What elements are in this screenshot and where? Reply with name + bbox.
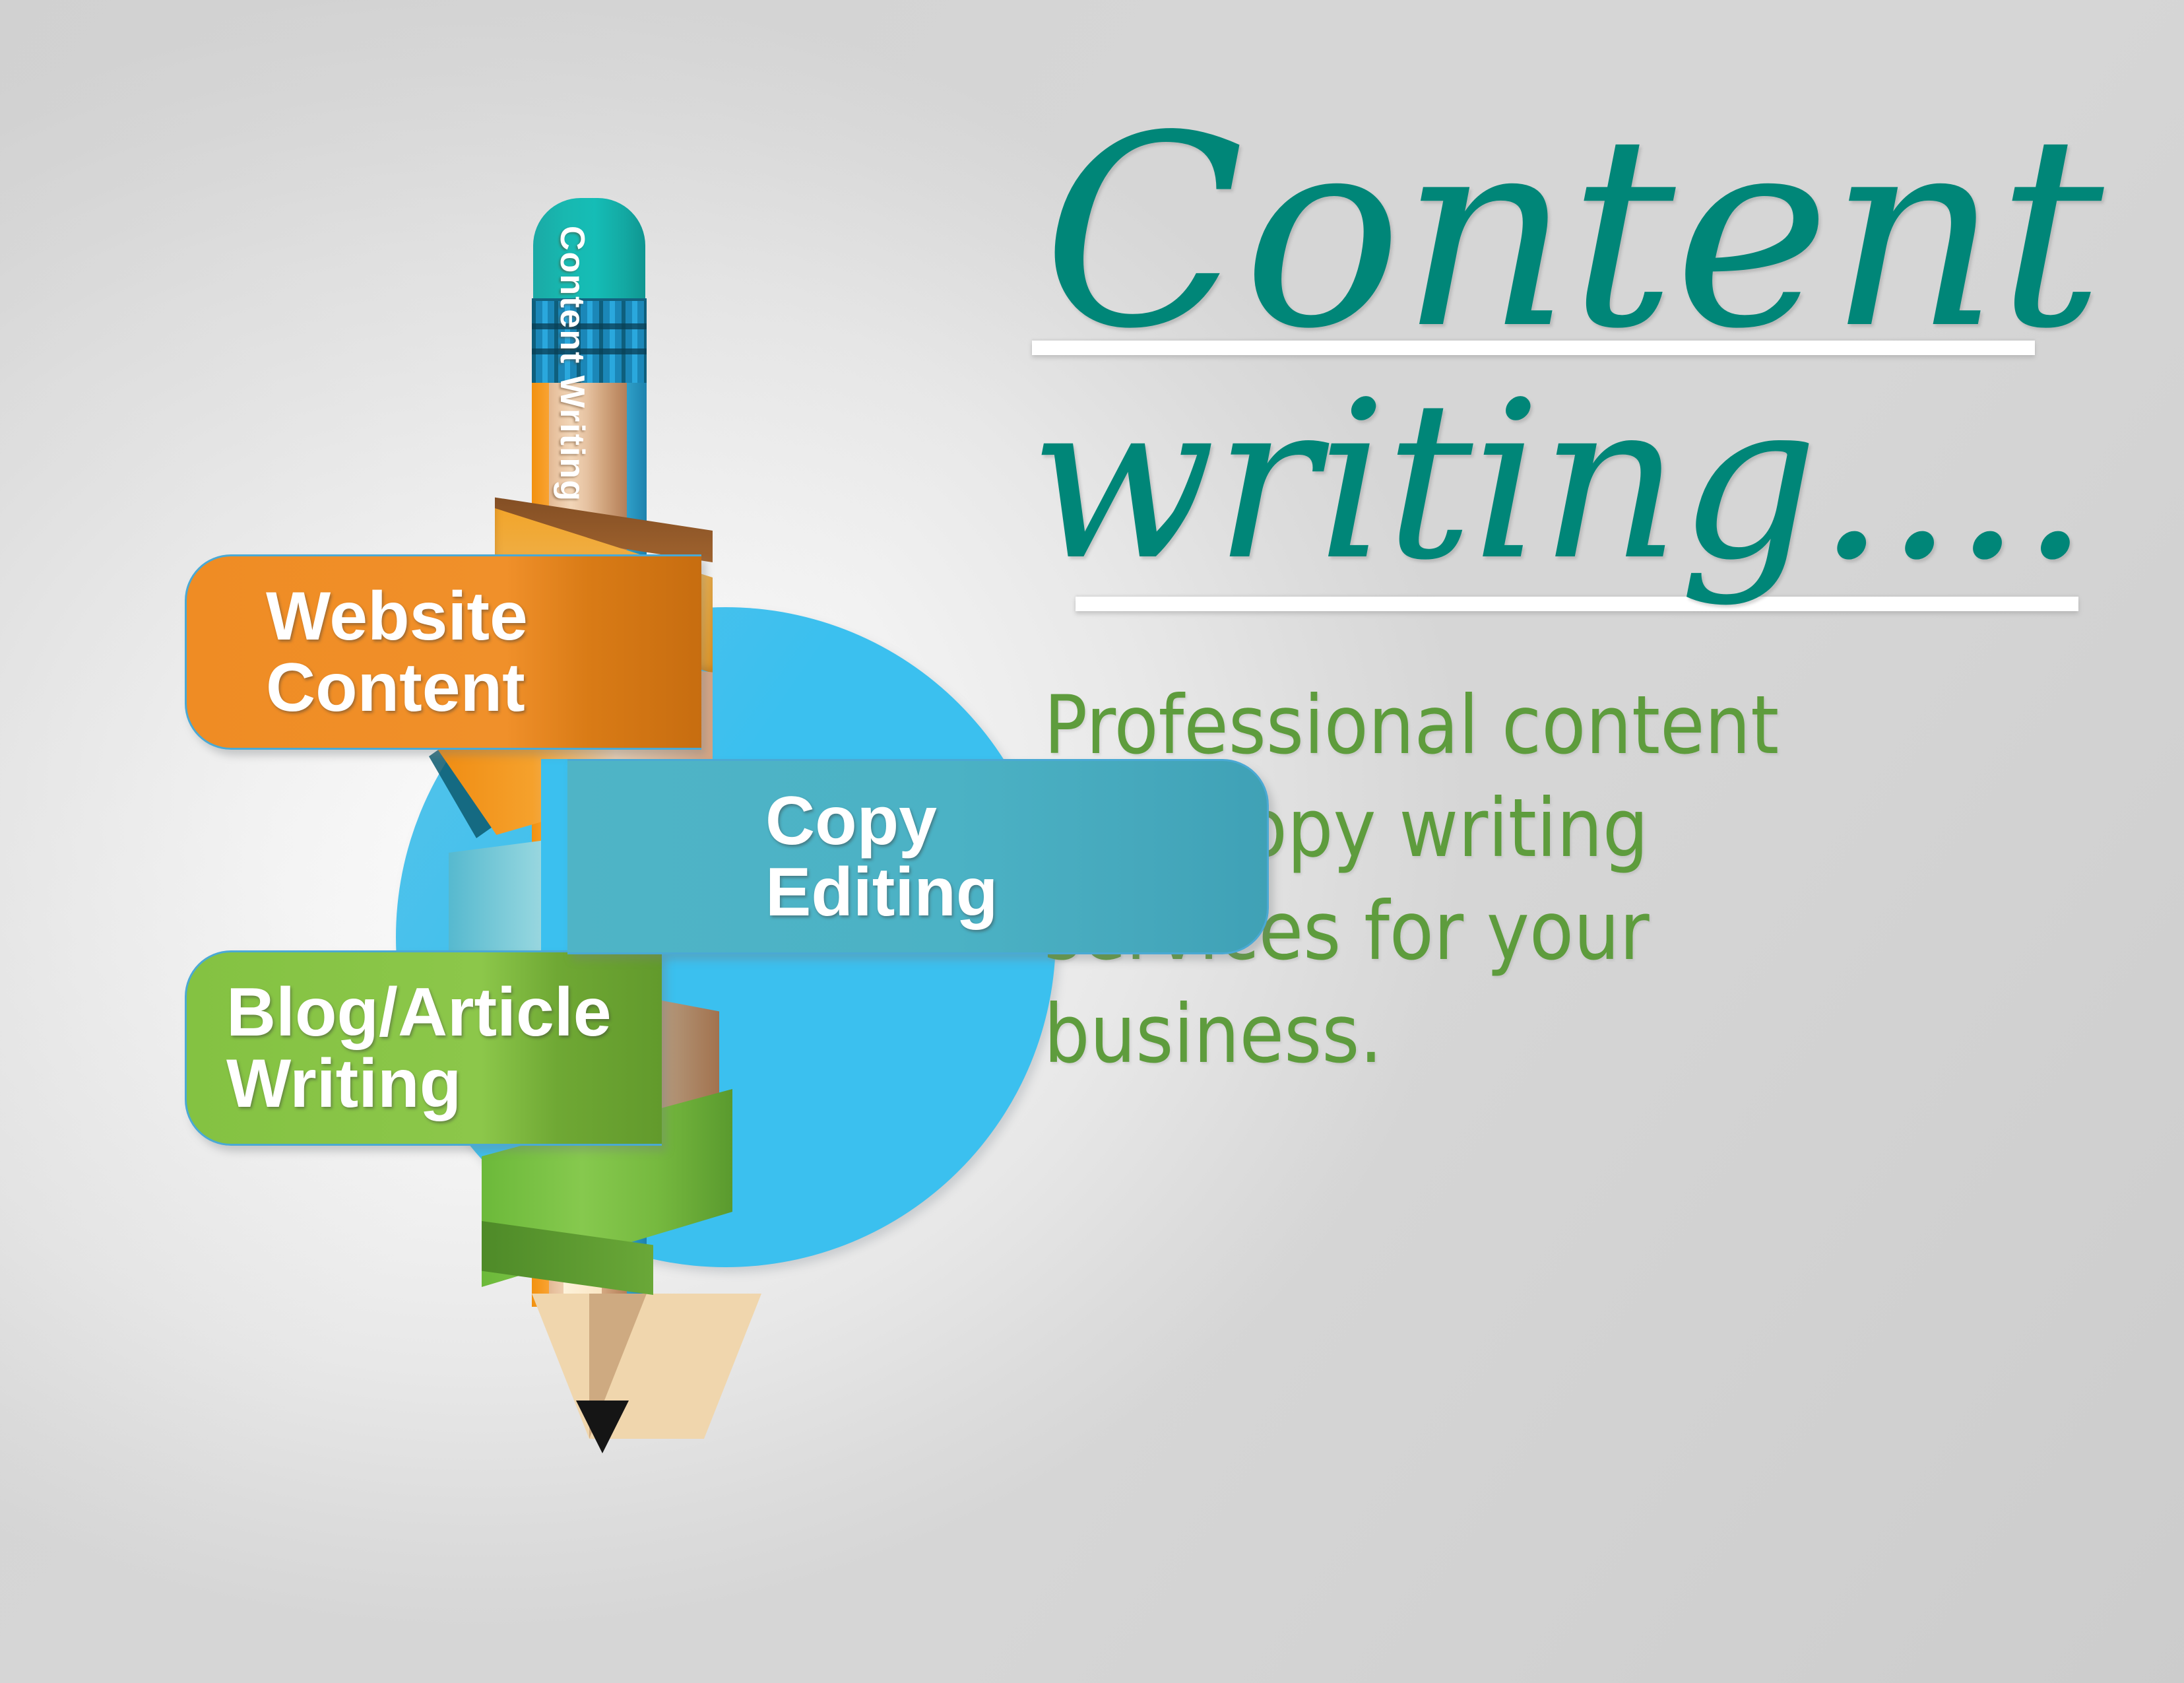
poster-canvas: Website Content Blog/Article Writing Cop… [0, 0, 2184, 1683]
pencil-tip-lead [576, 1401, 629, 1453]
headline-line-2: writing.... [1029, 381, 2098, 582]
badge-blog-article-writing[interactable]: Blog/Article Writing [185, 950, 662, 1146]
badge-blog-article-writing-line1: Blog/Article [226, 977, 612, 1048]
pencil-barrel-label-text: Content Writing [552, 226, 592, 502]
pencil-illustration: Website Content Blog/Article Writing Cop… [119, 198, 1056, 1505]
badge-blog-article-writing-line2: Writing [226, 1048, 612, 1119]
badge-copy-editing[interactable]: Copy Editing [567, 759, 1269, 954]
badge-website-content-line1: Website [266, 581, 528, 652]
badge-website-content[interactable]: Website Content [185, 554, 701, 750]
headline-line-1: Content [1029, 112, 2098, 355]
badge-copy-editing-line2: Editing [765, 857, 998, 928]
badge-copy-editing-line1: Copy [765, 785, 998, 857]
badge-website-content-line2: Content [266, 652, 528, 723]
